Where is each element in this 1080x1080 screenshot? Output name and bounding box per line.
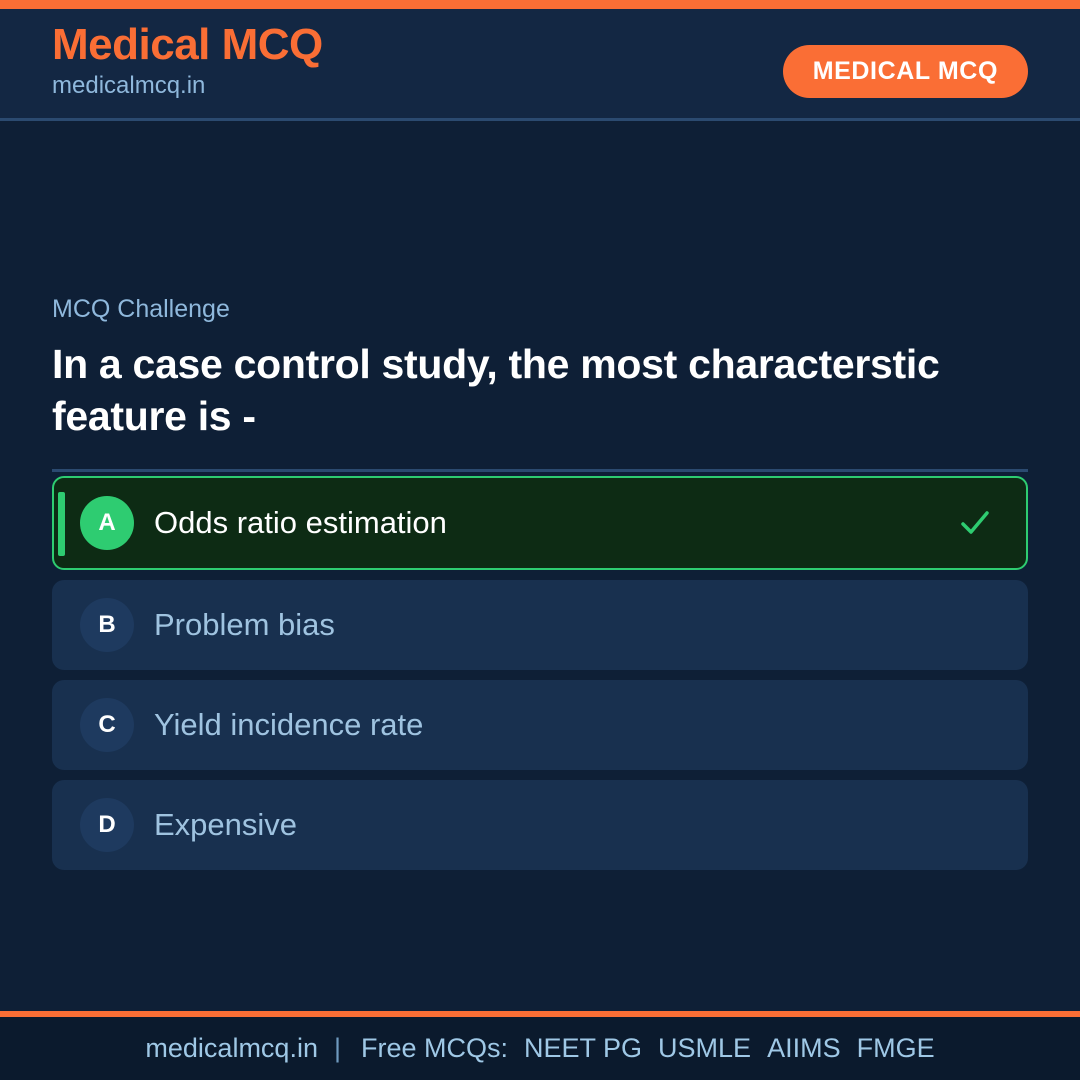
footer-site[interactable]: medicalmcq.in [145,1033,318,1064]
option-letter-badge-c: C [80,698,134,752]
option-label-b: Problem bias [154,606,335,643]
check-icon [958,506,992,540]
question-divider [52,469,1028,472]
brand-title: Medical MCQ [52,21,323,69]
question-text: In a case control study, the most charac… [52,338,1028,443]
option-letter-badge-b: B [80,598,134,652]
option-row-d[interactable]: D Expensive [52,780,1028,870]
options-list: A Odds ratio estimation B Problem bias C… [52,476,1028,880]
option-row-b[interactable]: B Problem bias [52,580,1028,670]
option-label-c: Yield incidence rate [154,706,423,743]
brand-subtitle: medicalmcq.in [52,71,323,101]
top-accent-bar [0,0,1080,9]
footer-exams-label: Free MCQs: [361,1033,508,1064]
option-letter-badge-a: A [80,496,134,550]
page-footer: medicalmcq.in | Free MCQs: NEET PG USMLE… [0,1017,1080,1080]
option-label-d: Expensive [154,806,297,843]
header-badge[interactable]: MEDICAL MCQ [783,45,1028,98]
option-row-a[interactable]: A Odds ratio estimation [52,476,1028,570]
footer-separator: | [334,1033,341,1064]
option-label-a: Odds ratio estimation [154,504,447,541]
footer-exam-neet-pg[interactable]: NEET PG [524,1033,642,1064]
option-letter-badge-d: D [80,798,134,852]
footer-exam-fmge[interactable]: FMGE [857,1033,935,1064]
page-header: Medical MCQ medicalmcq.in MEDICAL MCQ [0,9,1080,121]
correct-accent-bar [58,492,65,556]
brand-block: Medical MCQ medicalmcq.in [52,21,323,101]
question-block: MCQ Challenge In a case control study, t… [52,294,1028,472]
footer-exam-aiims[interactable]: AIIMS [767,1033,841,1064]
eyebrow-label: MCQ Challenge [52,294,1028,324]
option-row-c[interactable]: C Yield incidence rate [52,680,1028,770]
footer-inner: medicalmcq.in | Free MCQs: NEET PG USMLE… [145,1033,934,1064]
footer-exam-usmle[interactable]: USMLE [658,1033,751,1064]
main-content: MCQ Challenge In a case control study, t… [0,124,1080,1011]
